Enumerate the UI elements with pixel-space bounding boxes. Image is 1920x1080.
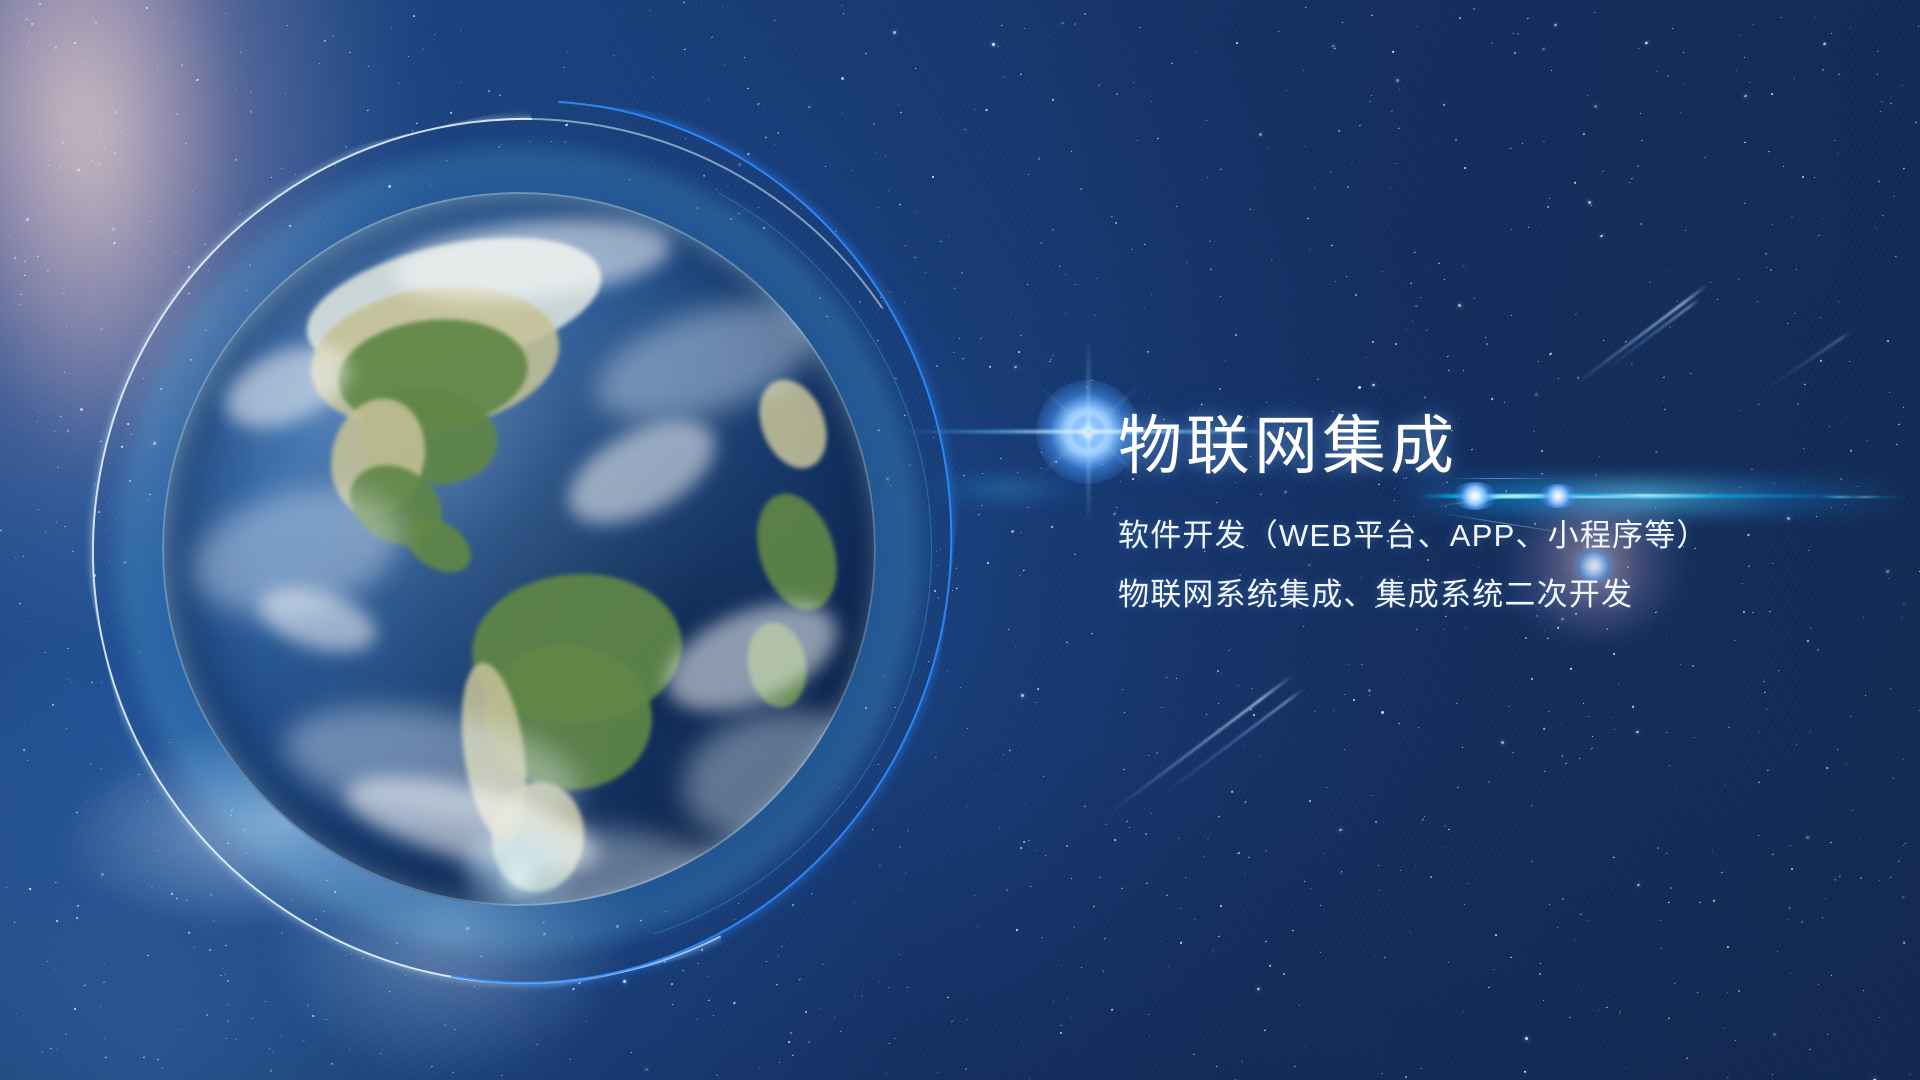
iot-integration-banner: 物联网集成 软件开发（WEB平台、APP、小程序等） 物联网系统集成、集成系统二…: [0, 0, 1920, 1080]
globe-sphere: [162, 192, 876, 906]
copy-block: 物联网集成 软件开发（WEB平台、APP、小程序等） 物联网系统集成、集成系统二…: [1118, 414, 1858, 610]
subtitle-line-1: 软件开发（WEB平台、APP、小程序等）: [1118, 520, 1858, 551]
earth-globe: [162, 192, 876, 906]
globe-bottom-highlight: [162, 192, 876, 906]
page-title: 物联网集成: [1118, 414, 1858, 478]
subtitle-line-2: 物联网系统集成、集成系统二次开发: [1118, 579, 1858, 610]
